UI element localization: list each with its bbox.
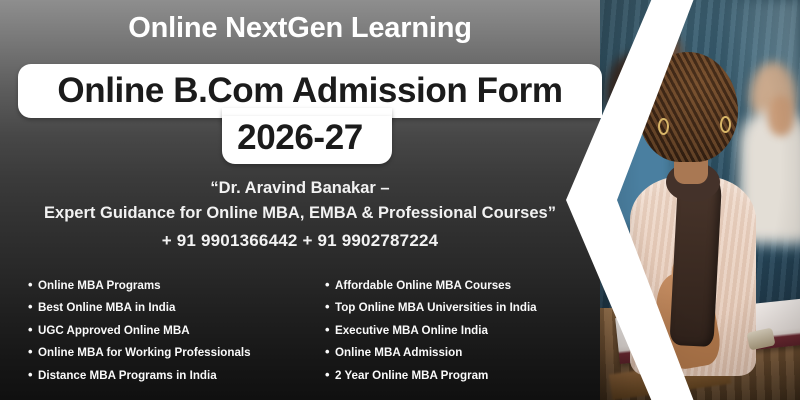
keyword-item: •Online MBA Admission — [325, 341, 608, 363]
bullet-icon: • — [325, 364, 335, 385]
keyword-label: Best Online MBA in India — [38, 297, 175, 318]
promotional-banner: Online NextGen Learning Online B.Com Adm… — [0, 0, 800, 400]
keyword-item: •UGC Approved Online MBA — [28, 319, 311, 341]
headline-text: Online B.Com Admission Form 2026-27 — [18, 68, 602, 162]
bullet-icon: • — [28, 319, 38, 340]
bullet-icon: • — [325, 341, 335, 362]
keyword-label: Affordable Online MBA Courses — [335, 275, 511, 296]
keyword-label: UGC Approved Online MBA — [38, 320, 190, 341]
keyword-item: •Executive MBA Online India — [325, 319, 608, 341]
keyword-label: Distance MBA Programs in India — [38, 365, 217, 386]
keyword-item: •Top Online MBA Universities in India — [325, 296, 608, 318]
keyword-item: •Best Online MBA in India — [28, 296, 311, 318]
phone-numbers[interactable]: + 91 9901366442 + 91 9902787224 — [0, 228, 600, 253]
bullet-icon: • — [325, 274, 335, 295]
headline-band: Online B.Com Admission Form 2026-27 — [18, 64, 602, 164]
keyword-item: •Distance MBA Programs in India — [28, 364, 311, 386]
headline-line-1: Online B.Com Admission Form — [57, 71, 562, 110]
bullet-icon: • — [28, 364, 38, 385]
quote-line-2: Expert Guidance for Online MBA, EMBA & P… — [44, 204, 556, 222]
keyword-item: •Affordable Online MBA Courses — [325, 274, 608, 296]
quote-line-1: “Dr. Aravind Banakar – — [210, 179, 389, 197]
keyword-label: Online MBA Programs — [38, 275, 161, 296]
keyword-label: Executive MBA Online India — [335, 320, 488, 341]
headline-line-2: 2026-27 — [0, 114, 602, 162]
bullet-icon: • — [325, 319, 335, 340]
bullet-icon: • — [28, 274, 38, 295]
keyword-label: 2 Year Online MBA Program — [335, 365, 488, 386]
keyword-label: Online MBA for Working Professionals — [38, 342, 251, 363]
bullet-icon: • — [28, 341, 38, 362]
keyword-column-left: •Online MBA Programs•Best Online MBA in … — [28, 274, 311, 382]
keyword-item: •2 Year Online MBA Program — [325, 364, 608, 386]
keyword-item: •Online MBA for Working Professionals — [28, 341, 311, 363]
keyword-columns: •Online MBA Programs•Best Online MBA in … — [28, 274, 608, 382]
keyword-item: •Online MBA Programs — [28, 274, 311, 296]
keyword-label: Online MBA Admission — [335, 342, 462, 363]
keyword-label: Top Online MBA Universities in India — [335, 297, 537, 318]
brand-title: Online NextGen Learning — [0, 12, 600, 45]
keyword-column-right: •Affordable Online MBA Courses•Top Onlin… — [311, 274, 608, 382]
quote-block: “Dr. Aravind Banakar – Expert Guidance f… — [0, 176, 600, 253]
bullet-icon: • — [325, 296, 335, 317]
bullet-icon: • — [28, 296, 38, 317]
